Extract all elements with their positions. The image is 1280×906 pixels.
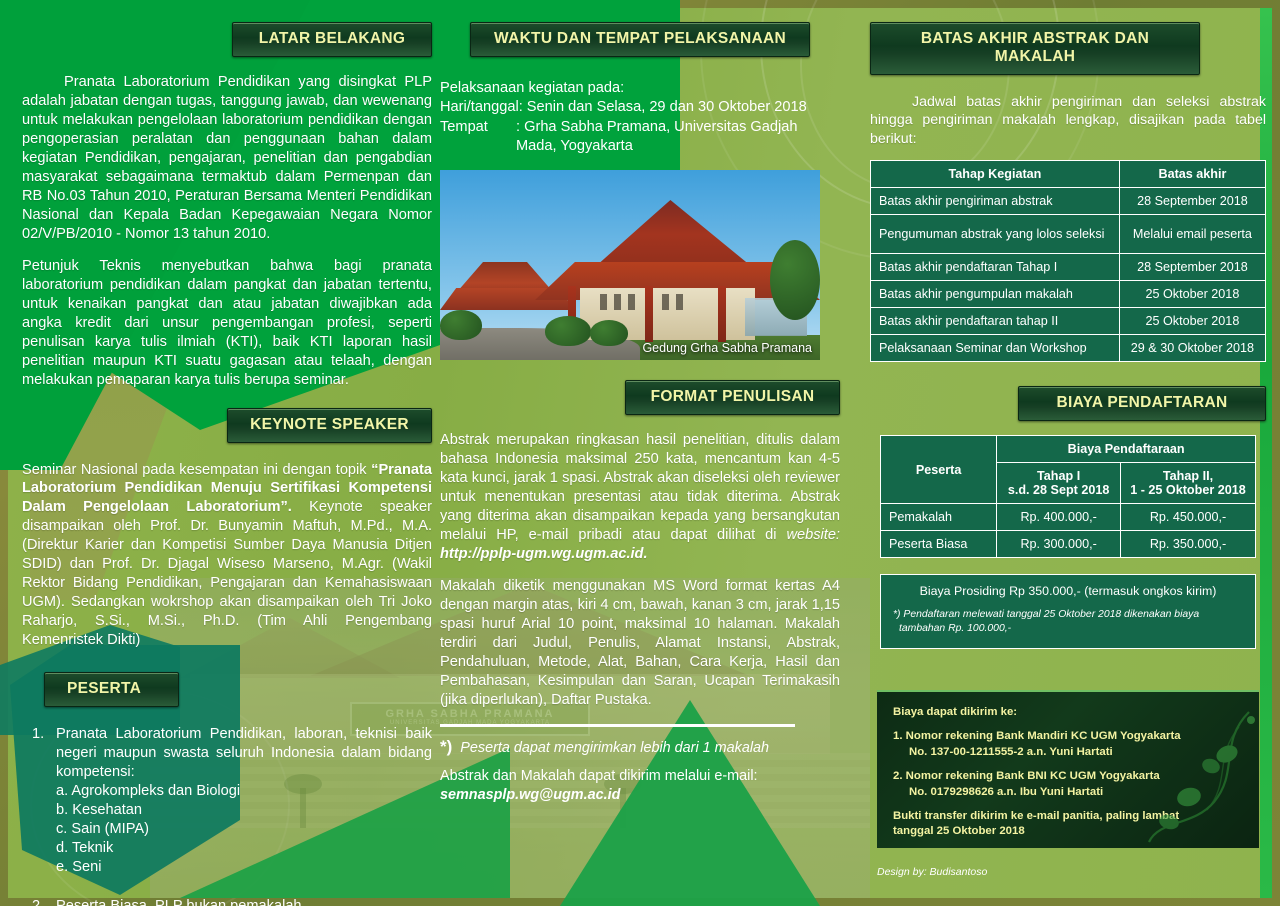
fee-tahap1-amount: Rp. 400.000,- (997, 504, 1121, 531)
peserta-sub-item: b. Kesehatan (32, 801, 432, 820)
deadline-col-activity: Tahap Kegiatan (871, 161, 1120, 188)
banner-wrap-biaya: BIAYA PENDAFTARAN (870, 386, 1266, 421)
table-row: Batas akhir pengiriman abstrak 28 Septem… (871, 188, 1266, 215)
deadline-value: 28 September 2018 (1119, 254, 1265, 281)
photo-bush (545, 316, 591, 346)
asterisk-icon: *) (440, 737, 452, 756)
prosiding-info-box: Biaya Prosiding Rp 350.000,- (termasuk o… (880, 574, 1256, 649)
divider-line (440, 724, 795, 727)
banner-wrap-waktu: WAKTU DAN TEMPAT PELAKSANAAN (440, 22, 840, 57)
format-email-address[interactable]: semnasplp.wg@ugm.ac.id (440, 786, 840, 805)
keynote-lead: Seminar Nasional pada kesempatan ini den… (22, 462, 371, 478)
peserta-sub-item: e. Seni (32, 858, 432, 877)
table-row: Pengumuman abstrak yang lolos seleksi Me… (871, 215, 1266, 254)
format-website-label: website: (786, 527, 840, 543)
banner-wrap-keynote: KEYNOTE SPEAKER (22, 408, 432, 443)
fee-col-participant: Peserta (881, 436, 997, 504)
deadline-activity: Pengumuman abstrak yang lolos seleksi (871, 215, 1120, 254)
fee-tahap1-line1: Tahap I (1037, 469, 1080, 483)
latar-belakang-body: Pranata Laboratorium Pendidikan yang dis… (22, 73, 432, 390)
latar-belakang-paragraph-2: Petunjuk Teknis menyebutkan bahwa bagi p… (22, 257, 432, 390)
batas-akhir-intro: Jadwal batas akhir pengiriman dan seleks… (870, 93, 1266, 148)
peserta-sub-item: d. Teknik (32, 839, 432, 858)
format-paragraph-1: Abstrak merupakan ringkasan hasil peneli… (440, 431, 840, 564)
peserta-list-item: 2. Peserta Biasa, PLP bukan pemakalah (32, 897, 432, 906)
table-row: Batas akhir pendaftaran tahap II 25 Okto… (871, 308, 1266, 335)
format-star-note-row: *) Peserta dapat mengirimkan lebih dari … (440, 737, 840, 757)
photo-bush (440, 310, 482, 340)
table-header-row: Tahap Kegiatan Batas akhir (871, 161, 1266, 188)
photo-window (676, 294, 683, 310)
section-header-format-penulisan: FORMAT PENULISAN (625, 380, 840, 415)
peserta-item-1-text: Pranata Laboratorium Pendidikan, laboran… (56, 725, 432, 782)
deadline-table: Tahap Kegiatan Batas akhir Batas akhir p… (870, 160, 1266, 362)
bank-item-number: 2. (893, 770, 903, 782)
keynote-rest: Keynote speaker disampaikan oleh Prof. D… (22, 499, 432, 648)
deadline-activity: Batas akhir pengumpulan makalah (871, 281, 1120, 308)
banner-wrap-batas-akhir: BATAS AKHIR ABSTRAK DAN MAKALAH (870, 22, 1266, 75)
fee-tahap1-amount: Rp. 300.000,- (997, 531, 1121, 558)
fee-table: Peserta Biaya Pendaftaraan Tahap I s.d. … (880, 435, 1256, 558)
peserta-item-1-number: 1. (32, 725, 50, 782)
deadline-value: 25 Oktober 2018 (1119, 281, 1265, 308)
deadline-activity: Batas akhir pendaftaran tahap II (871, 308, 1120, 335)
peserta-list: 1. Pranata Laboratorium Pendidikan, labo… (22, 725, 432, 906)
venue-photo: Gedung Grha Sabha Pramana (440, 170, 820, 360)
column-left: LATAR BELAKANG Pranata Laboratorium Pend… (22, 22, 432, 906)
fee-tahap2-line1: Tahap II, (1163, 469, 1213, 483)
peserta-item-2-text: Peserta Biasa, PLP bukan pemakalah (56, 897, 302, 906)
deadline-col-deadline: Batas akhir (1119, 161, 1265, 188)
table-row: Peserta Biasa Rp. 300.000,- Rp. 350.000,… (881, 531, 1256, 558)
prosiding-fee-text: Biaya Prosiding Rp 350.000,- (termasuk o… (893, 584, 1243, 598)
deadline-activity: Pelaksanaan Seminar dan Workshop (871, 335, 1120, 362)
section-header-peserta: PESERTA (44, 672, 179, 707)
poster-canvas: GRHA SABHA PRAMANA UNIVERSITAS GADJAH MA… (0, 0, 1280, 906)
table-row: Pemakalah Rp. 400.000,- Rp. 450.000,- (881, 504, 1256, 531)
bank-item-number: 1. (893, 730, 903, 742)
format-star-note: Peserta dapat mengirimkan lebih dari 1 m… (460, 740, 769, 756)
photo-bush (590, 320, 628, 346)
deadline-table-wrap: Tahap Kegiatan Batas akhir Batas akhir p… (870, 160, 1266, 362)
waktu-tempat-value: : Grha Sabha Pramana, Universitas Gadjah… (516, 118, 840, 157)
table-row: Batas akhir pendaftaran Tahap I 28 Septe… (871, 254, 1266, 281)
peserta-sub-item: c. Sain (MIPA) (32, 820, 432, 839)
bank-transfer-box: Biaya dapat dikirim ke: 1. Nomor rekenin… (877, 690, 1259, 848)
waktu-line-2: Hari/tanggal: Senin dan Selasa, 29 dan 3… (440, 98, 840, 117)
column-right: BATAS AKHIR ABSTRAK DAN MAKALAH Jadwal b… (870, 22, 1266, 649)
deadline-value: 25 Oktober 2018 (1119, 308, 1265, 335)
vine-ornament-icon (1119, 702, 1259, 848)
photo-column (718, 286, 726, 342)
designer-credit: Design by: Budisantoso (877, 866, 987, 878)
deadline-activity: Batas akhir pengiriman abstrak (871, 188, 1120, 215)
fee-group-header: Biaya Pendaftaraan (997, 436, 1256, 463)
deadline-value: 29 & 30 Oktober 2018 (1119, 335, 1265, 362)
fee-tahap2-amount: Rp. 350.000,- (1121, 531, 1256, 558)
table-header-row: Peserta Biaya Pendaftaraan (881, 436, 1256, 463)
format-email-block: Abstrak dan Makalah dapat dikirim melalu… (440, 767, 840, 805)
banner-wrap-peserta: PESERTA (22, 672, 432, 707)
peserta-sub-item: a. Agrokompleks dan Biologi (32, 782, 432, 801)
photo-tree (770, 240, 820, 320)
fee-participant-type: Peserta Biasa (881, 531, 997, 558)
waktu-tempat-label: Tempat (440, 118, 516, 157)
table-row: Batas akhir pengumpulan makalah 25 Oktob… (871, 281, 1266, 308)
waktu-line-1: Pelaksanaan kegiatan pada: (440, 79, 840, 98)
peserta-item-2-number: 2. (32, 897, 50, 906)
photo-window (614, 294, 621, 310)
waktu-details: Pelaksanaan kegiatan pada: Hari/tanggal:… (440, 79, 840, 156)
fee-table-wrap: Peserta Biaya Pendaftaraan Tahap I s.d. … (870, 435, 1266, 558)
table-row: Pelaksanaan Seminar dan Workshop 29 & 30… (871, 335, 1266, 362)
section-header-keynote-speaker: KEYNOTE SPEAKER (227, 408, 432, 443)
keynote-speaker-body: Seminar Nasional pada kesempatan ini den… (22, 461, 432, 651)
photo-column (645, 286, 653, 342)
fee-col-tahap-1: Tahap I s.d. 28 Sept 2018 (997, 463, 1121, 504)
column-middle: WAKTU DAN TEMPAT PELAKSANAAN Pelaksanaan… (440, 22, 840, 805)
photo-window (600, 294, 607, 310)
section-header-biaya-pendaftaran: BIAYA PENDAFTARAN (1018, 386, 1266, 421)
waktu-line-3: Tempat : Grha Sabha Pramana, Universitas… (440, 118, 840, 157)
section-header-waktu-tempat: WAKTU DAN TEMPAT PELAKSANAAN (470, 22, 810, 57)
banner-wrap-latar-belakang: LATAR BELAKANG (22, 22, 432, 57)
fee-tahap2-line2: 1 - 25 Oktober 2018 (1130, 483, 1246, 497)
photo-window (662, 294, 669, 310)
format-website-url[interactable]: http://pplp-ugm.wg.ugm.ac.id. (440, 546, 648, 562)
fee-tahap2-amount: Rp. 450.000,- (1121, 504, 1256, 531)
fee-col-tahap-2: Tahap II, 1 - 25 Oktober 2018 (1121, 463, 1256, 504)
format-paragraph-2: Makalah diketik menggunakan MS Word form… (440, 577, 840, 710)
fee-participant-type: Pemakalah (881, 504, 997, 531)
peserta-list-item: 1. Pranata Laboratorium Pendidikan, labo… (32, 725, 432, 782)
prosiding-late-note: *) Pendaftaran melewati tanggal 25 Oktob… (893, 608, 1243, 636)
section-header-batas-akhir: BATAS AKHIR ABSTRAK DAN MAKALAH (870, 22, 1200, 75)
fee-tahap1-line2: s.d. 28 Sept 2018 (1008, 483, 1110, 497)
deadline-value: Melalui email peserta (1119, 215, 1265, 254)
photo-window (628, 294, 635, 310)
deadline-value: 28 September 2018 (1119, 188, 1265, 215)
deadline-activity: Batas akhir pendaftaran Tahap I (871, 254, 1120, 281)
format-p1-text: Abstrak merupakan ringkasan hasil peneli… (440, 432, 840, 543)
latar-belakang-paragraph-1: Pranata Laboratorium Pendidikan yang dis… (22, 73, 432, 244)
format-email-label: Abstrak dan Makalah dapat dikirim melalu… (440, 767, 840, 786)
banner-wrap-format: FORMAT PENULISAN (440, 380, 840, 415)
photo-caption: Gedung Grha Sabha Pramana (642, 341, 812, 355)
section-header-latar-belakang: LATAR BELAKANG (232, 22, 432, 57)
